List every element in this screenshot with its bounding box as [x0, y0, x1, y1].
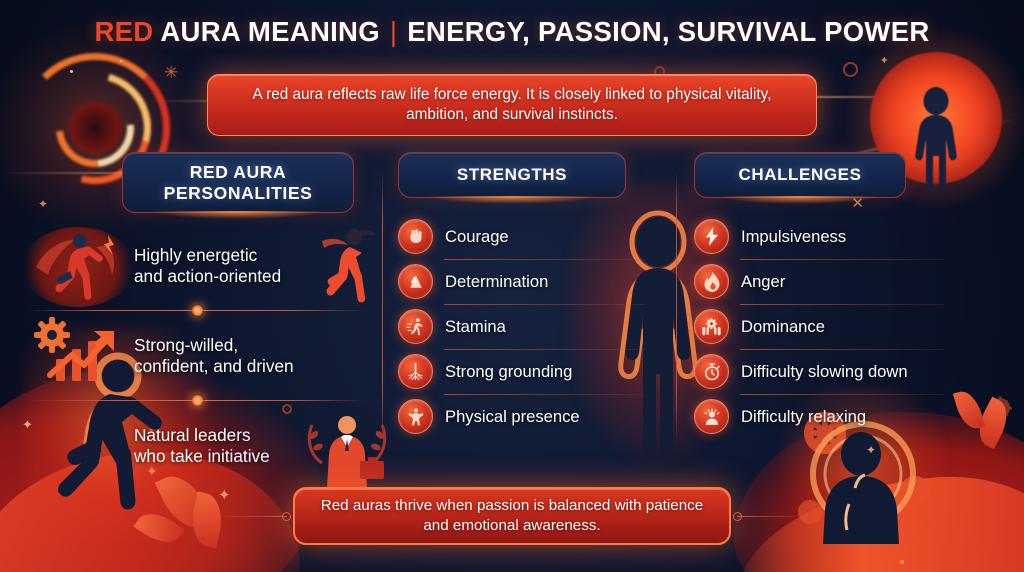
leaf-decoration [133, 505, 184, 551]
stopwatch-icon [694, 354, 729, 389]
title-rest: AURA MEANING [160, 16, 380, 47]
sparkle-dot [900, 560, 904, 564]
running-man-icon [22, 227, 134, 307]
column-personalities: RED AURA PERSONALITIES [22, 152, 372, 481]
gear-icon [990, 398, 1010, 418]
gear-growth-chart-icon [28, 315, 128, 391]
list-item-line2: and action-oriented [134, 266, 281, 287]
list-item: Courage [398, 214, 646, 259]
list-item: Impulsiveness [694, 214, 944, 259]
list-item-label: Impulsiveness [741, 227, 846, 247]
list-item-line2: confident, and driven [134, 356, 294, 377]
sparkle-icon: ✳ [164, 64, 178, 81]
column-divider [676, 170, 677, 440]
list-item-line1: Highly energetic [134, 245, 281, 266]
leaf-decoration [187, 491, 227, 548]
list-item-label: Dominance [741, 317, 825, 337]
gear-icon [900, 476, 930, 506]
list-item: Determination [398, 259, 646, 304]
footer-text: Red auras thrive when passion is balance… [313, 496, 711, 536]
list-item: Stamina [398, 304, 646, 349]
sparkle-icon: ✦ [866, 444, 876, 456]
flame-icon [694, 264, 729, 299]
list-item: Highly energetic and action-oriented [22, 231, 372, 301]
decorative-ring [843, 62, 858, 77]
infographic-canvas: ✕ ✦ ✳ ✦ [0, 0, 1024, 572]
hands-gear-icon [694, 309, 729, 344]
section-title-line1: RED AURA [133, 162, 343, 183]
leaf-decoration [953, 388, 985, 433]
column-challenges: CHALLENGES Impulsiveness Anger Dominance [694, 152, 944, 439]
list-item-label: Physical presence [445, 407, 580, 427]
footer-accent-line [737, 516, 809, 517]
list-item-line2: who take initiative [134, 446, 270, 467]
running-figure-icon [398, 309, 433, 344]
list-item: Difficulty slowing down [694, 349, 944, 394]
list-item: Dominance [694, 304, 944, 349]
sparkle-dot [120, 60, 122, 62]
list-item-label: Courage [445, 227, 509, 247]
intro-banner: A red aura reflects raw life force energ… [207, 74, 817, 136]
footer-accent-line [215, 516, 287, 517]
title-red-word: RED [94, 16, 153, 47]
red-wave-decoration [728, 462, 1024, 572]
list-item: Strong grounding [398, 349, 646, 394]
list-item-label: Determination [445, 272, 548, 292]
footer-banner: Red auras thrive when passion is balance… [293, 487, 731, 545]
fist-icon [398, 219, 433, 254]
leaf-decoration [971, 397, 1016, 450]
section-title-line2: PERSONALITIES [133, 183, 343, 204]
running-woman-icon [298, 225, 388, 311]
list-item-label: Anger [741, 272, 785, 292]
list-item: Difficulty relaxing [694, 394, 944, 439]
list-item-line1: Strong-willed, [134, 335, 294, 356]
list-item-label: Stamina [445, 317, 506, 337]
lightning-bolt-icon [694, 219, 729, 254]
list-item: Physical presence [398, 394, 646, 439]
list-item-line1: Natural leaders [134, 425, 270, 446]
section-title-personalities: RED AURA PERSONALITIES [122, 152, 354, 213]
flexing-figure-icon [398, 399, 433, 434]
gear-icon [798, 500, 822, 524]
list-divider [22, 393, 372, 409]
mountain-icon [398, 264, 433, 299]
list-item: Strong-willed, confident, and driven [22, 321, 372, 391]
intro-text: A red aura reflects raw life force energ… [230, 85, 794, 125]
footer-accent-dot [733, 512, 742, 521]
list-item: Natural leaders who take initiative [22, 411, 372, 481]
list-item-label: Strong grounding [445, 362, 572, 382]
sparkle-dot [70, 70, 73, 73]
businessman-laurel-icon [300, 409, 396, 493]
sparkle-icon: ✦ [218, 488, 231, 503]
page-title: RED AURA MEANING | ENERGY, PASSION, SURV… [0, 16, 1024, 48]
section-title-challenges: CHALLENGES [694, 152, 906, 198]
title-tail: ENERGY, PASSION, SURVIVAL POWER [407, 16, 929, 47]
list-item: Anger [694, 259, 944, 304]
roots-icon [398, 354, 433, 389]
stressed-person-icon [694, 399, 729, 434]
title-separator: | [388, 16, 399, 47]
sparkle-icon: ✦ [880, 56, 889, 67]
column-strengths: STRENGTHS Courage Determination Stamina [398, 152, 646, 439]
footer-accent-dot [282, 512, 291, 521]
section-title-strengths: STRENGTHS [398, 152, 626, 198]
list-item-label: Difficulty relaxing [741, 407, 866, 427]
list-item-label: Difficulty slowing down [741, 362, 908, 382]
